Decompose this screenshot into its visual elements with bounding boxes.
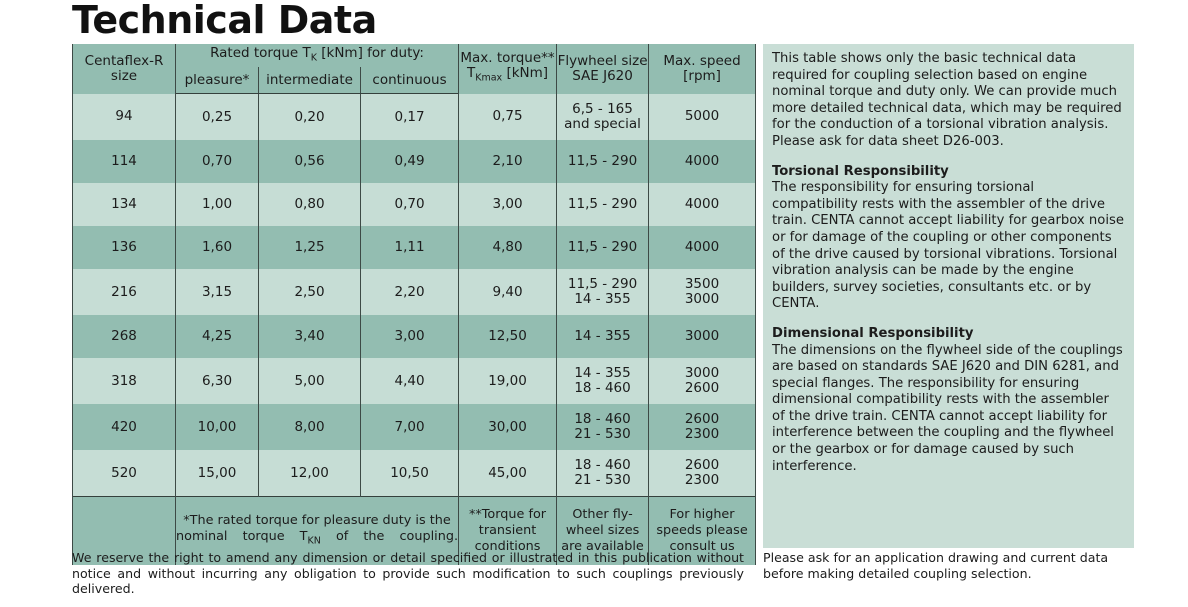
header-cell-pleasure: pleasure* <box>176 67 259 94</box>
cell-max-speed: 4000 <box>649 183 756 226</box>
cell-flywheel: 11,5 - 290 <box>557 183 649 226</box>
cell-flywheel: 14 - 35518 - 460 <box>557 358 649 404</box>
cell-intermediate: 8,00 <box>259 404 361 450</box>
cell-pleasure: 3,15 <box>176 269 259 315</box>
cell-pleasure: 6,30 <box>176 358 259 404</box>
cell-max-speed: 4000 <box>649 226 756 269</box>
cell-max-torque: 12,50 <box>459 315 557 358</box>
header-cell-flywheel: Flywheel size SAE J620 <box>557 44 649 94</box>
content-region: Centaflex-R size Rated torque TK [kNm] f… <box>72 44 1134 548</box>
cell-continuous: 2,20 <box>361 269 459 315</box>
torsional-responsibility-body: The responsibility for ensuring torsiona… <box>772 180 1124 313</box>
cell-pleasure: 0,70 <box>176 140 259 183</box>
cell-pleasure: 4,25 <box>176 315 259 358</box>
header-flywheel-line2: SAE J620 <box>572 68 633 84</box>
cell-flywheel: 11,5 - 29014 - 355 <box>557 269 649 315</box>
header-max-torque-line1: Max. torque** <box>460 50 554 66</box>
footnote-torque-post: of the coupling. <box>321 529 458 544</box>
cell-max-torque: 2,10 <box>459 140 557 183</box>
cell-size: 114 <box>73 140 176 183</box>
cell-max-torque: 19,00 <box>459 358 557 404</box>
cell-size: 520 <box>73 450 176 497</box>
dimensional-responsibility-heading: Dimensional Responsibility <box>772 326 1124 343</box>
cell-continuous: 3,00 <box>361 315 459 358</box>
cell-flywheel: 14 - 355 <box>557 315 649 358</box>
cell-intermediate: 0,80 <box>259 183 361 226</box>
cell-intermediate: 0,56 <box>259 140 361 183</box>
header-row-top: Centaflex-R size Rated torque TK [kNm] f… <box>73 44 756 67</box>
header-flywheel-line1: Flywheel size <box>558 53 648 69</box>
header-cell-max-speed: Max. speed [rpm] <box>649 44 756 94</box>
cell-flywheel: 6,5 - 165and special <box>557 94 649 141</box>
header-max-torque-post: [kNm] <box>502 65 548 81</box>
cell-max-torque: 45,00 <box>459 450 557 497</box>
table-row: 940,250,200,170,756,5 - 165and special50… <box>73 94 756 141</box>
cell-intermediate: 0,20 <box>259 94 361 141</box>
cell-intermediate: 1,25 <box>259 226 361 269</box>
cell-size: 318 <box>73 358 176 404</box>
torsional-responsibility-heading: Torsional Responsibility <box>772 164 1124 181</box>
cell-flywheel: 11,5 - 290 <box>557 140 649 183</box>
cell-size: 94 <box>73 94 176 141</box>
header-cell-continuous: continuous <box>361 67 459 94</box>
header-rated-torque-post: [kNm] for duty: <box>317 45 424 61</box>
table-row: 1341,000,800,703,0011,5 - 2904000 <box>73 183 756 226</box>
header-cell-max-torque: Max. torque** TKmax [kNm] <box>459 44 557 94</box>
header-max-torque-pre: T <box>467 65 475 81</box>
cell-flywheel: 18 - 46021 - 530 <box>557 404 649 450</box>
cell-size: 134 <box>73 183 176 226</box>
information-panel: This table shows only the basic technica… <box>763 44 1134 548</box>
cell-intermediate: 5,00 <box>259 358 361 404</box>
page-title: Technical Data <box>72 0 377 42</box>
header-cell-intermediate: intermediate <box>259 67 361 94</box>
header-speed-line1: Max. speed <box>663 53 740 69</box>
header-size-line2: size <box>111 68 137 84</box>
cell-max-speed: 26002300 <box>649 450 756 497</box>
cell-continuous: 0,70 <box>361 183 459 226</box>
technical-data-table: Centaflex-R size Rated torque TK [kNm] f… <box>72 44 756 565</box>
cell-max-speed: 3000 <box>649 315 756 358</box>
cell-continuous: 10,50 <box>361 450 459 497</box>
technical-data-page: Technical Data Centaflex-R size Rated <box>0 0 1188 607</box>
footer-region: We reserve the right to amend any dimens… <box>72 550 1134 607</box>
cell-continuous: 0,17 <box>361 94 459 141</box>
intro-paragraph: This table shows only the basic technica… <box>772 51 1124 151</box>
footer-disclaimer-left: We reserve the right to amend any dimens… <box>72 550 744 597</box>
cell-max-speed: 30002600 <box>649 358 756 404</box>
header-cell-rated-torque-group: Rated torque TK [kNm] for duty: <box>176 44 459 67</box>
cell-pleasure: 15,00 <box>176 450 259 497</box>
cell-pleasure: 1,60 <box>176 226 259 269</box>
table-row: 2684,253,403,0012,5014 - 3553000 <box>73 315 756 358</box>
cell-max-torque: 3,00 <box>459 183 557 226</box>
table-body: 940,250,200,170,756,5 - 165and special50… <box>73 94 756 497</box>
cell-max-torque: 9,40 <box>459 269 557 315</box>
cell-flywheel: 18 - 46021 - 530 <box>557 450 649 497</box>
cell-size: 136 <box>73 226 176 269</box>
cell-pleasure: 0,25 <box>176 94 259 141</box>
header-cell-size: Centaflex-R size <box>73 44 176 94</box>
header-rated-torque-pre: Rated torque T <box>210 45 311 61</box>
footer-disclaimer-right: Please ask for an application drawing an… <box>763 550 1143 581</box>
header-speed-line2: [rpm] <box>683 68 721 84</box>
table-row: 1361,601,251,114,8011,5 - 2904000 <box>73 226 756 269</box>
cell-size: 268 <box>73 315 176 358</box>
cell-max-torque: 0,75 <box>459 94 557 141</box>
table-row: 3186,305,004,4019,0014 - 35518 - 4603000… <box>73 358 756 404</box>
cell-continuous: 4,40 <box>361 358 459 404</box>
cell-size: 420 <box>73 404 176 450</box>
cell-flywheel: 11,5 - 290 <box>557 226 649 269</box>
cell-max-speed: 35003000 <box>649 269 756 315</box>
dimensional-responsibility-body: The dimensions on the flywheel side of t… <box>772 343 1124 476</box>
cell-pleasure: 1,00 <box>176 183 259 226</box>
cell-intermediate: 2,50 <box>259 269 361 315</box>
table-row: 1140,700,560,492,1011,5 - 2904000 <box>73 140 756 183</box>
cell-intermediate: 3,40 <box>259 315 361 358</box>
cell-intermediate: 12,00 <box>259 450 361 497</box>
cell-continuous: 0,49 <box>361 140 459 183</box>
header-size-line1: Centaflex-R <box>85 53 164 69</box>
table-row: 52015,0012,0010,5045,0018 - 46021 - 5302… <box>73 450 756 497</box>
table-row: 2163,152,502,209,4011,5 - 29014 - 355350… <box>73 269 756 315</box>
table-row: 42010,008,007,0030,0018 - 46021 - 530260… <box>73 404 756 450</box>
cell-max-speed: 5000 <box>649 94 756 141</box>
cell-max-speed: 4000 <box>649 140 756 183</box>
cell-max-speed: 26002300 <box>649 404 756 450</box>
cell-continuous: 1,11 <box>361 226 459 269</box>
cell-max-torque: 30,00 <box>459 404 557 450</box>
footnote-torque-sub: KN <box>308 535 321 546</box>
cell-continuous: 7,00 <box>361 404 459 450</box>
cell-size: 216 <box>73 269 176 315</box>
technical-data-table-container: Centaflex-R size Rated torque TK [kNm] f… <box>72 44 755 548</box>
cell-max-torque: 4,80 <box>459 226 557 269</box>
cell-pleasure: 10,00 <box>176 404 259 450</box>
header-max-torque-sub: Kmax <box>475 73 502 84</box>
table-header: Centaflex-R size Rated torque TK [kNm] f… <box>73 44 756 94</box>
